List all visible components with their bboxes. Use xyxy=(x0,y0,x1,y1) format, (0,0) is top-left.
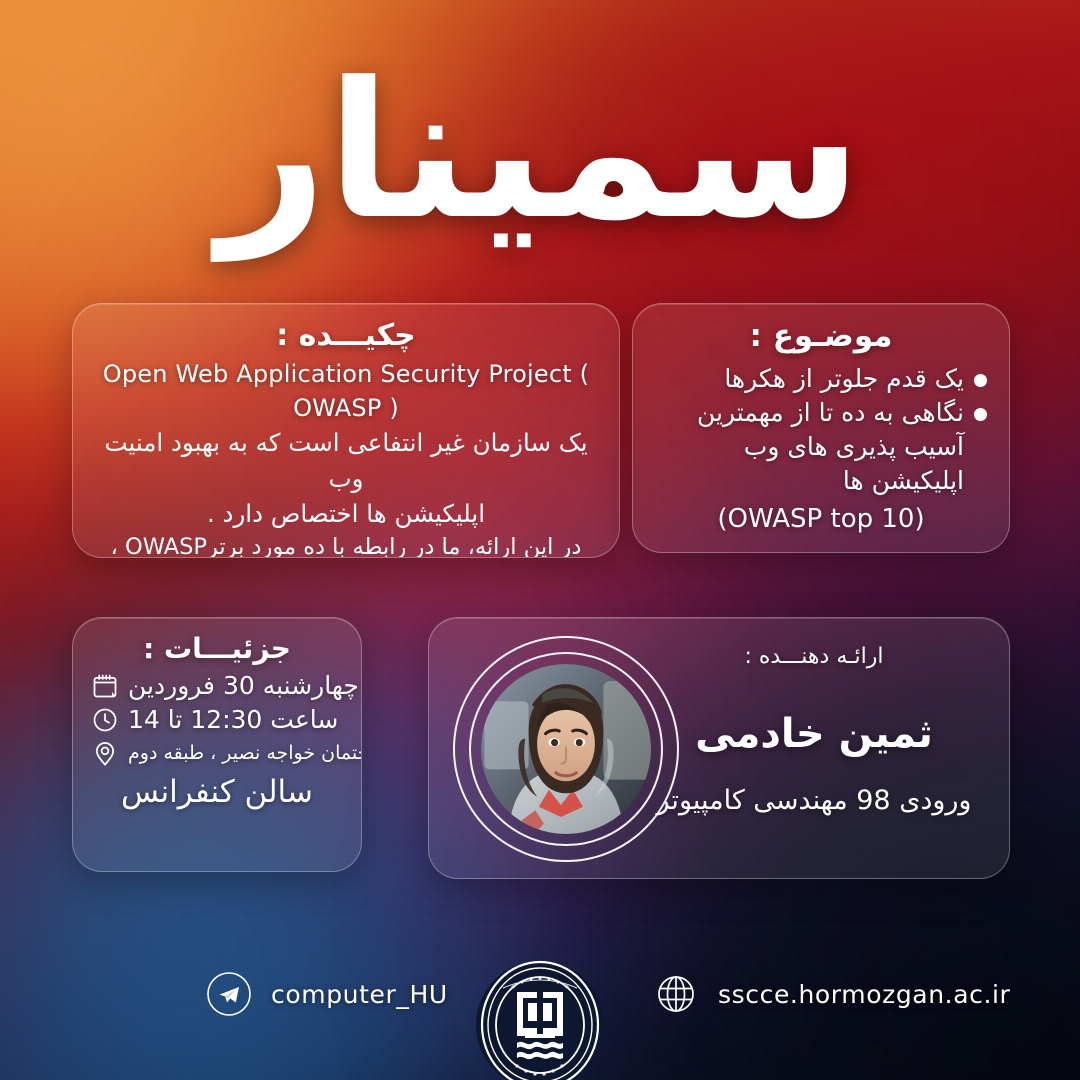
topic-bullet-item: نگاهی به ده تا از مهمترین آسیب پذیری های… xyxy=(655,396,987,498)
details-time-text: ساعت 12:30 تا 14 xyxy=(128,705,338,734)
footer-website[interactable]: sscce.hormozgan.ac.ir xyxy=(652,970,1010,1018)
presenter-affiliation: ورودی 98 مهندسی کامپیوتر xyxy=(649,785,979,816)
details-card: جزئیـــات : چهارشنبه 30 فروردین ساعت 12:… xyxy=(72,617,362,872)
footer-telegram[interactable]: computer_HU xyxy=(205,970,448,1018)
abstract-heading: چکیـــده : xyxy=(99,318,593,353)
globe-icon[interactable] xyxy=(652,970,700,1018)
presenter-text: ارائـه دهنـــده : ثمین خادمی ورودی 98 مه… xyxy=(649,644,979,816)
poster-title-wrap: سمینار xyxy=(0,58,1080,246)
topic-heading: موضـوع : xyxy=(655,318,987,354)
avatar xyxy=(481,664,651,834)
abstract-line: یک سازمان غیر انتفاعی است که به بهبود ام… xyxy=(99,425,593,496)
footer: computer_HU xyxy=(0,950,1080,1040)
abstract-english-line: Open Web Application Security Project ( … xyxy=(99,357,593,425)
details-row-location: ساختمان خواجه نصیر ، طبقه دوم xyxy=(91,739,343,767)
presenter-inner: ارائـه دهنـــده : ثمین خادمی ورودی 98 مه… xyxy=(429,618,1009,878)
seminar-poster: سمینار چکیـــده : Open Web Application S… xyxy=(0,0,1080,1080)
details-heading: جزئیـــات : xyxy=(91,632,343,665)
details-venue: سالن کنفرانس xyxy=(91,774,343,810)
footer-telegram-handle[interactable]: computer_HU xyxy=(271,980,448,1009)
details-date-text: چهارشنبه 30 فروردین xyxy=(128,671,359,700)
clock-icon xyxy=(91,706,119,734)
topic-bullet-text: نگاهی به ده تا از مهمترین آسیب پذیری های… xyxy=(655,396,964,498)
abstract-line: در این ارائه، ما در رابطه با ده مورد برت… xyxy=(99,532,593,558)
bullet-dot-icon xyxy=(974,374,987,387)
details-row-time: ساعت 12:30 تا 14 xyxy=(91,705,343,734)
presenter-card: ارائـه دهنـــده : ثمین خادمی ورودی 98 مه… xyxy=(428,617,1010,879)
topic-card: موضـوع : یک قدم جلوتر از هکرها نگاهی به … xyxy=(632,303,1010,553)
topic-footnote: (OWASP top 10) xyxy=(655,504,987,534)
calendar-icon xyxy=(91,672,119,700)
university-seal-icon xyxy=(473,958,607,1080)
location-pin-icon xyxy=(91,739,119,767)
topic-bullet-item: یک قدم جلوتر از هکرها xyxy=(655,362,987,396)
abstract-line: اپلیکیشن ها اختصاص دارد . xyxy=(99,496,593,532)
abstract-card: چکیـــده : Open Web Application Security… xyxy=(72,303,620,558)
poster-title: سمینار xyxy=(0,58,1080,246)
topic-bullet-text: یک قدم جلوتر از هکرها xyxy=(724,362,964,396)
footer-website-url[interactable]: sscce.hormozgan.ac.ir xyxy=(718,980,1010,1009)
presenter-label: ارائـه دهنـــده : xyxy=(649,644,979,669)
details-row-date: چهارشنبه 30 فروردین xyxy=(91,671,343,700)
telegram-icon[interactable] xyxy=(205,970,253,1018)
bullet-dot-icon xyxy=(974,408,987,421)
details-location-text: ساختمان خواجه نصیر ، طبقه دوم xyxy=(128,742,362,764)
presenter-name: ثمین خادمی xyxy=(649,711,979,757)
